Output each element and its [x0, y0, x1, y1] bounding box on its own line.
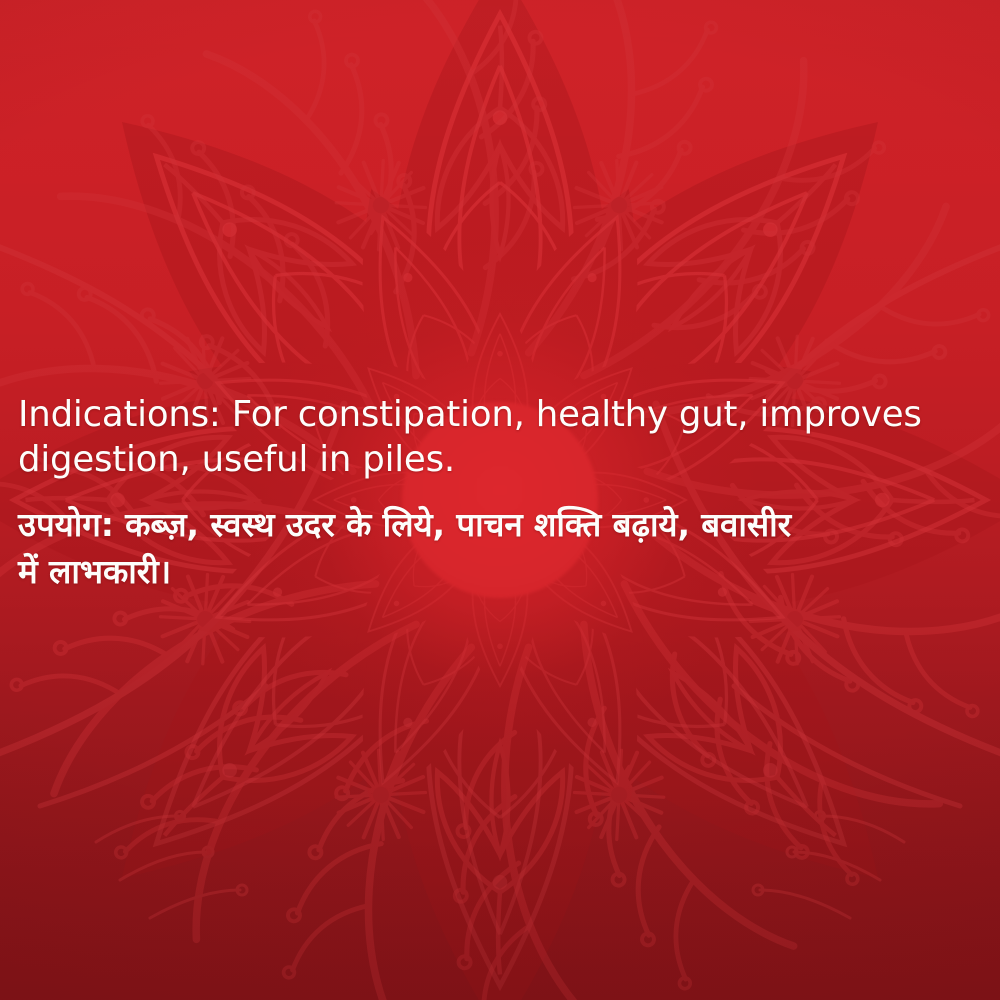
indications-english-line-1: Indications: For constipation, healthy g… [18, 392, 980, 437]
indications-hindi-group: उपयोग: कब्ज़, स्वस्थ उदर के लिये, पाचन श… [18, 501, 980, 595]
product-indications-banner: Indications: For constipation, healthy g… [0, 0, 1000, 1000]
indications-hindi-line-1: उपयोग: कब्ज़, स्वस्थ उदर के लिये, पाचन श… [18, 501, 980, 548]
indications-text-block: Indications: For constipation, healthy g… [18, 392, 980, 595]
indications-hindi-line-2: में लाभकारी। [18, 548, 980, 595]
indications-english-line-2: digestion, useful in piles. [18, 437, 980, 482]
